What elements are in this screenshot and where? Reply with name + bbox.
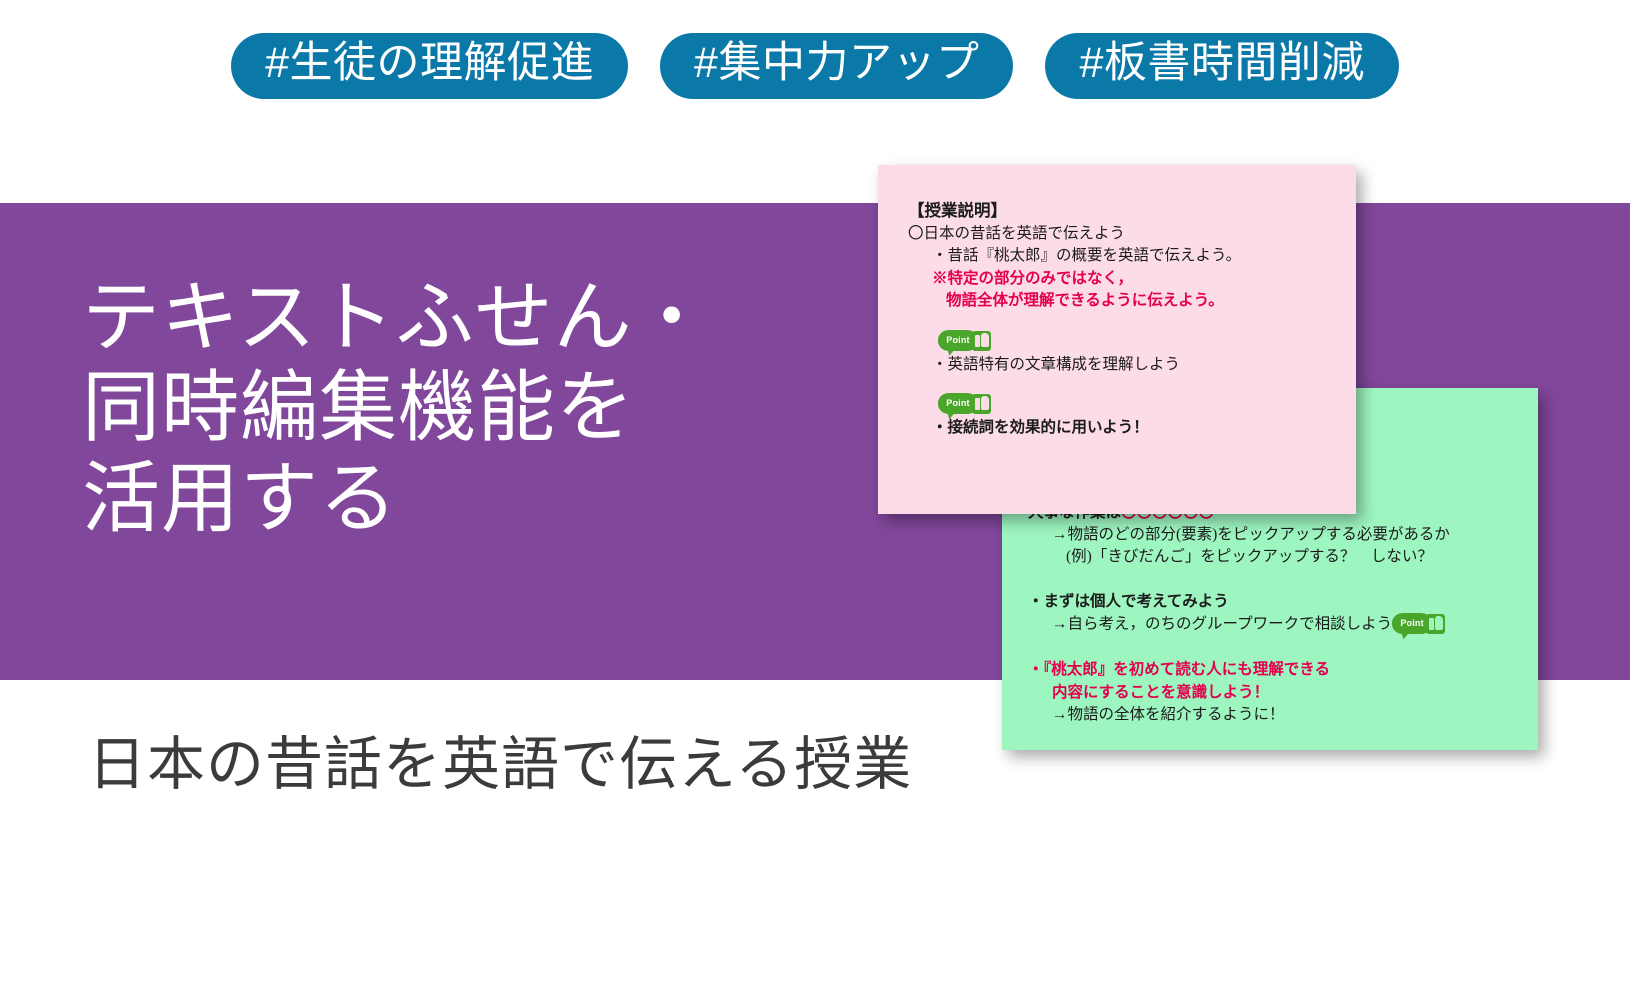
page-title-line-1: テキストふせん・	[82, 272, 822, 362]
green-line-arrow2: →自ら考え，のちのグループワークで相談しよう	[1052, 616, 1392, 633]
pink-line-bullet3: ・接続詞を効果的に用いよう！	[908, 417, 1334, 439]
page-title-line-2: 同時編集機能を	[82, 362, 822, 452]
pink-line-bullet2: ・英語特有の文章構成を理解しよう	[908, 354, 1334, 376]
pink-note-mark: ※	[932, 270, 948, 287]
point-badge-icon: Point	[938, 393, 992, 417]
green-line-example: (例)「きびだんご」をピックアップする？ しない？	[1028, 546, 1450, 568]
page-subtitle: 日本の昔話を英語で伝える授業	[88, 730, 912, 800]
page-title: テキストふせん・ 同時編集機能を 活用する	[82, 272, 822, 543]
pink-point-row-2: Point	[938, 393, 1334, 417]
pink-note-row: ※特定の部分のみではなく，	[908, 268, 1334, 290]
pink-line-goal: 〇日本の昔話を英語で伝えよう	[908, 223, 1334, 245]
pink-heading: 【授業説明】	[908, 199, 1334, 223]
thumbs-up-icon	[972, 331, 991, 351]
thumbs-up-icon	[1426, 614, 1445, 634]
hashtag-pill-2[interactable]: #集中力アップ	[660, 33, 1013, 99]
green-slide-body: →物語のどの部分(要素)をピックアップする必要があるか (例)「きびだんご」をピ…	[1028, 524, 1450, 727]
hashtag-pill-1[interactable]: #生徒の理解促進	[231, 33, 628, 99]
green-line-arrow1: →物語のどの部分(要素)をピックアップする必要があるか	[1028, 524, 1450, 546]
hashtag-row: #生徒の理解促進 #集中力アップ #板書時間削減	[0, 33, 1630, 99]
slide-thumbnail-pink[interactable]: 【授業説明】 〇日本の昔話を英語で伝えよう ・昔話『桃太郎』の概要を英語で伝えよ…	[878, 165, 1356, 514]
green-line-red1: ・『桃太郎』を初めて読む人にも理解できる	[1028, 659, 1450, 681]
pink-note-line2: 物語全体が理解できるように伝えよう。	[908, 290, 1334, 312]
green-line-arrow2-row: →自ら考え，のちのグループワークで相談しようPoint	[1028, 613, 1450, 637]
pink-point-row-1: Point	[938, 330, 1334, 354]
pink-note-line1: 特定の部分のみではなく，	[948, 270, 1134, 287]
thumbs-up-icon	[972, 394, 991, 414]
page-title-line-3: 活用する	[82, 453, 822, 543]
green-line-bullet1: ・まずは個人で考えてみよう	[1028, 591, 1450, 613]
green-line-arrow3: →物語の全体を紹介するように！	[1028, 704, 1450, 726]
point-badge-icon: Point	[1392, 613, 1446, 637]
pink-line-bullet1: ・昔話『桃太郎』の概要を英語で伝えよう。	[908, 245, 1334, 267]
point-badge-icon: Point	[938, 330, 992, 354]
green-line-red2: 内容にすることを意識しよう！	[1028, 682, 1450, 704]
hashtag-pill-3[interactable]: #板書時間削減	[1045, 33, 1398, 99]
